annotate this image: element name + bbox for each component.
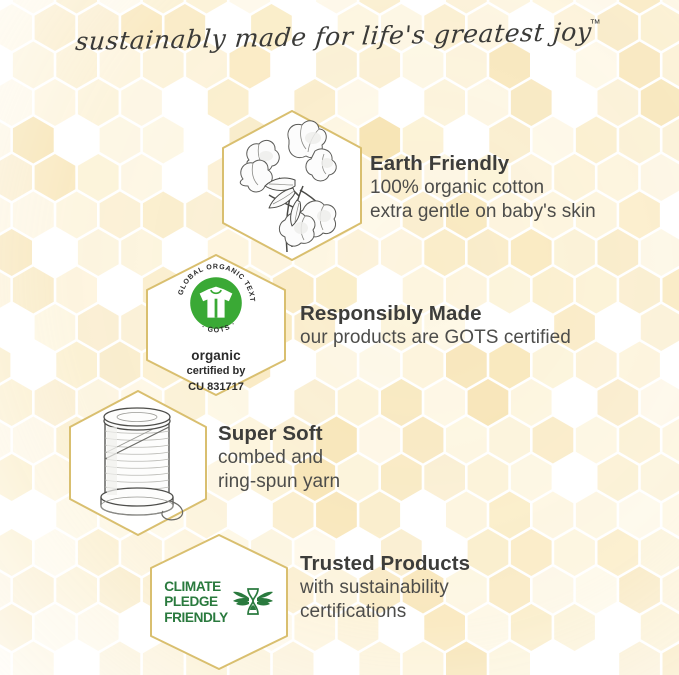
climate-pledge-friendly-logo: CLIMATE PLEDGE FRIENDLY: [164, 579, 274, 625]
sustainability-infographic: sustainably made for life's greatest joy…: [0, 0, 679, 675]
cpf-line-pledge: PLEDGE: [164, 594, 218, 609]
gots-certified-by-label: certified by: [187, 365, 246, 378]
cotton-plant-illustration: [229, 116, 355, 256]
gots-organic-seal: GLOBAL ORGANIC TEXTILE STANDARD · GOTS ·…: [173, 256, 259, 394]
feature-text-trusted-products: Trusted Products with sustainability cer…: [300, 552, 470, 624]
gots-organic-label: organic: [191, 348, 240, 363]
tagline: sustainably made for life's greatest joy…: [0, 22, 679, 51]
feature-line: with sustainability: [300, 576, 470, 600]
feature-line: 100% organic cotton: [370, 176, 596, 200]
tagline-text: sustainably made for life's greatest joy: [75, 17, 594, 56]
feature-line: combed and: [218, 446, 340, 470]
feature-title: Earth Friendly: [370, 152, 596, 176]
feature-line: extra gentle on baby's skin: [370, 200, 596, 224]
feature-title: Trusted Products: [300, 552, 470, 576]
thread-spool-illustration: [79, 401, 197, 525]
feature-text-earth-friendly: Earth Friendly 100% organic cotton extra…: [370, 152, 596, 224]
hexagon-card-earth-friendly: [216, 108, 368, 263]
feature-text-super-soft: Super Soft combed and ring-spun yarn: [218, 422, 340, 494]
trademark-symbol: ™: [590, 18, 601, 30]
feature-title: Responsibly Made: [300, 302, 571, 326]
feature-line: our products are GOTS certified: [300, 326, 571, 350]
hexagon-card-super-soft: [63, 388, 213, 538]
cpf-line-climate: CLIMATE: [164, 579, 221, 594]
feature-title: Super Soft: [218, 422, 340, 446]
winged-hourglass-icon: [232, 585, 274, 619]
feature-line: certifications: [300, 600, 470, 624]
feature-line: ring-spun yarn: [218, 470, 340, 494]
hexagon-card-trusted-products: CLIMATE PLEDGE FRIENDLY: [144, 532, 294, 672]
feature-text-responsibly-made: Responsibly Made our products are GOTS c…: [300, 302, 571, 350]
cpf-line-friendly: FRIENDLY: [164, 610, 228, 625]
hexagon-card-responsibly-made: GLOBAL ORGANIC TEXTILE STANDARD · GOTS ·…: [140, 252, 292, 398]
